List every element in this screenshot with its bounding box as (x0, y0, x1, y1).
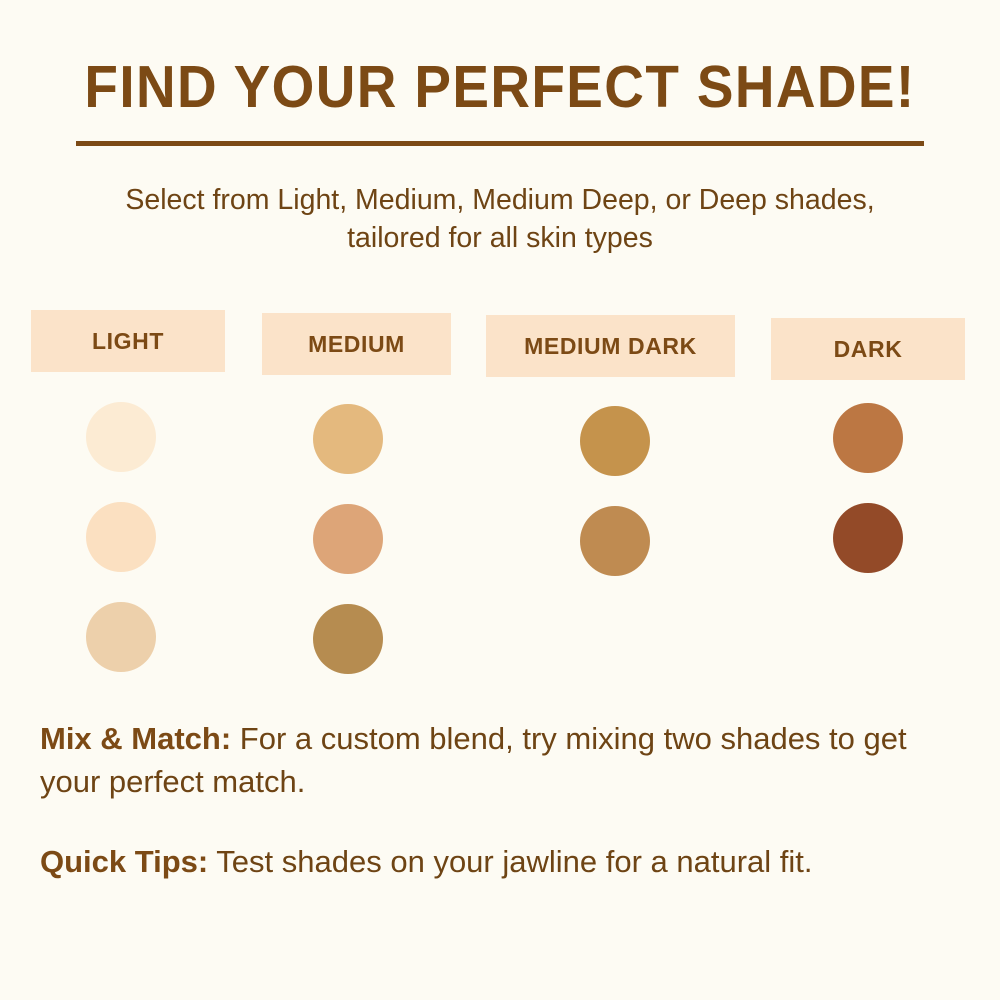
poster-header: FIND YOUR PERFECT SHADE! Select from Lig… (0, 0, 1000, 258)
category-label-medium[interactable]: MEDIUM (262, 313, 451, 375)
category-label-light-text: LIGHT (92, 328, 164, 355)
tip-mix-and-match-lead: Mix & Match: (40, 721, 231, 756)
shade-swatch-medium-3[interactable] (313, 604, 383, 674)
category-label-dark[interactable]: DARK (771, 318, 965, 380)
shade-swatch-light-3[interactable] (86, 602, 156, 672)
category-label-medium-text: MEDIUM (308, 331, 405, 358)
tip-quick-tips-body: Test shades on your jawline for a natura… (208, 844, 812, 879)
subtitle-line-1: Select from Light, Medium, Medium Deep, … (50, 182, 950, 220)
shade-swatch-medium-dark-2[interactable] (580, 506, 650, 576)
subtitle-line-2: tailored for all skin types (50, 220, 950, 258)
shade-swatch-light-1[interactable] (86, 402, 156, 472)
title-underline-rule (76, 141, 924, 146)
shade-swatch-dark-1[interactable] (833, 403, 903, 473)
tip-quick-tips-lead: Quick Tips: (40, 844, 208, 879)
shade-swatch-medium-2[interactable] (313, 504, 383, 574)
category-label-medium-dark[interactable]: MEDIUM DARK (486, 315, 735, 377)
page-subtitle: Select from Light, Medium, Medium Deep, … (50, 182, 950, 258)
tip-mix-and-match: Mix & Match: For a custom blend, try mix… (40, 718, 940, 804)
category-label-light[interactable]: LIGHT (31, 310, 225, 372)
tips-section: Mix & Match: For a custom blend, try mix… (40, 718, 940, 883)
shade-swatch-medium-1[interactable] (313, 404, 383, 474)
shade-swatch-light-2[interactable] (86, 502, 156, 572)
shade-finder-poster: FIND YOUR PERFECT SHADE! Select from Lig… (0, 0, 1000, 1000)
category-label-medium-dark-text: MEDIUM DARK (524, 333, 697, 360)
shade-swatch-dark-2[interactable] (833, 503, 903, 573)
page-title: FIND YOUR PERFECT SHADE! (35, 58, 965, 117)
shade-category-labels: LIGHT MEDIUM MEDIUM DARK DARK (0, 308, 1000, 388)
tip-quick-tips: Quick Tips: Test shades on your jawline … (40, 841, 940, 884)
shade-swatch-medium-dark-1[interactable] (580, 406, 650, 476)
category-label-dark-text: DARK (834, 336, 903, 363)
